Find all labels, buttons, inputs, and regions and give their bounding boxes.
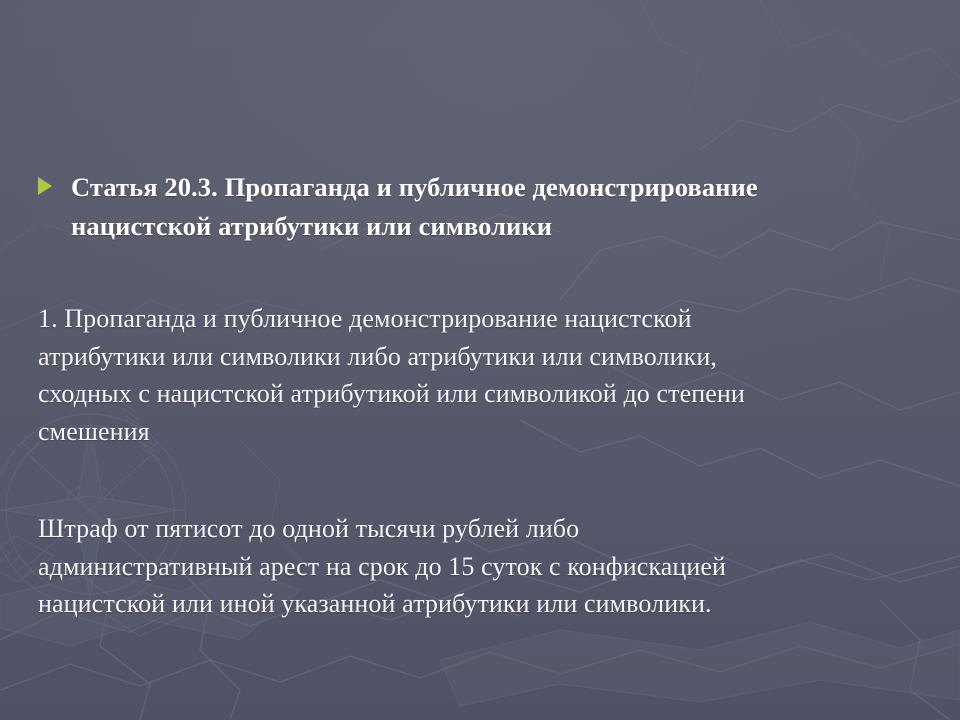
slide-body: 1. Пропаганда и публичное демонстрирован… [38,300,922,623]
heading-text: Статья 20.3. Пропаганда и публичное демо… [71,168,918,246]
slide-heading: Статья 20.3. Пропаганда и публичное демо… [38,168,918,246]
body-paragraph-2: Штраф от пятисот до одной тысячи рублей … [38,510,922,623]
slide-content: Статья 20.3. Пропаганда и публичное демо… [0,0,960,720]
slide-canvas: Статья 20.3. Пропаганда и публичное демо… [0,0,960,720]
triangle-right-icon [38,177,52,195]
body-paragraph-1: 1. Пропаганда и публичное демонстрирован… [38,300,922,450]
